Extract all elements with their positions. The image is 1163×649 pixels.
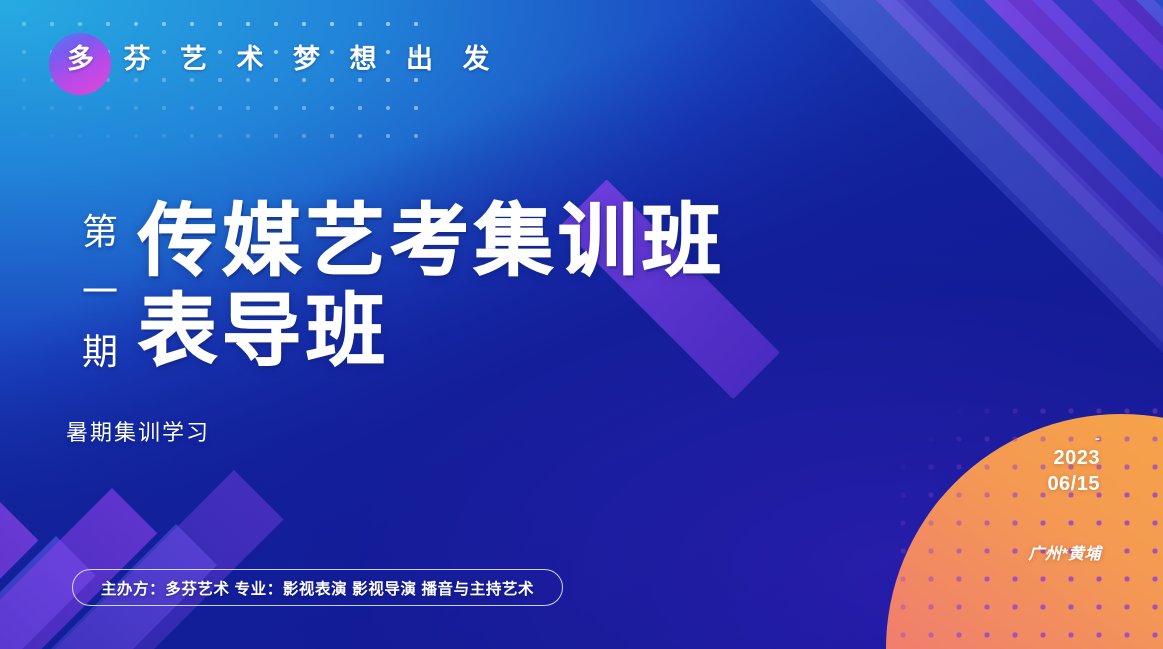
subtitle-text: 暑期集训学习	[66, 415, 210, 447]
ordinal-char-3: 期	[82, 322, 118, 382]
location-text: 广州*黄埔	[1028, 540, 1101, 564]
ordinal-char-1: 第	[82, 202, 118, 262]
date-block: - 2023 06/15	[1047, 433, 1100, 497]
title-block: 第 一 期 传媒艺考集训班 表导班	[66, 196, 726, 382]
date-monthday: 06/15	[1047, 471, 1100, 497]
brand-wordmark: 多 芬 艺 术 梦 想 出 发	[67, 46, 501, 73]
title-headlines: 传媒艺考集训班 表导班	[138, 196, 726, 376]
dot-grid-bottom-right	[883, 389, 1163, 649]
poster-canvas: 多 芬 艺 术 梦 想 出 发 第 一 期 传媒艺考集训班 表导班 暑期集训学习…	[0, 0, 1163, 649]
date-year: 2023	[1047, 445, 1100, 471]
organizer-majors-pill: 主办方：多芬艺术 专业：影视表演 影视导演 播音与主持艺术	[72, 569, 563, 606]
title-line-2: 表导班	[138, 286, 726, 376]
title-line-1: 传媒艺考集训班	[138, 196, 726, 286]
title-ordinal: 第 一 期	[66, 196, 134, 382]
ordinal-char-2: 一	[82, 262, 118, 322]
date-dash: -	[1047, 433, 1100, 445]
